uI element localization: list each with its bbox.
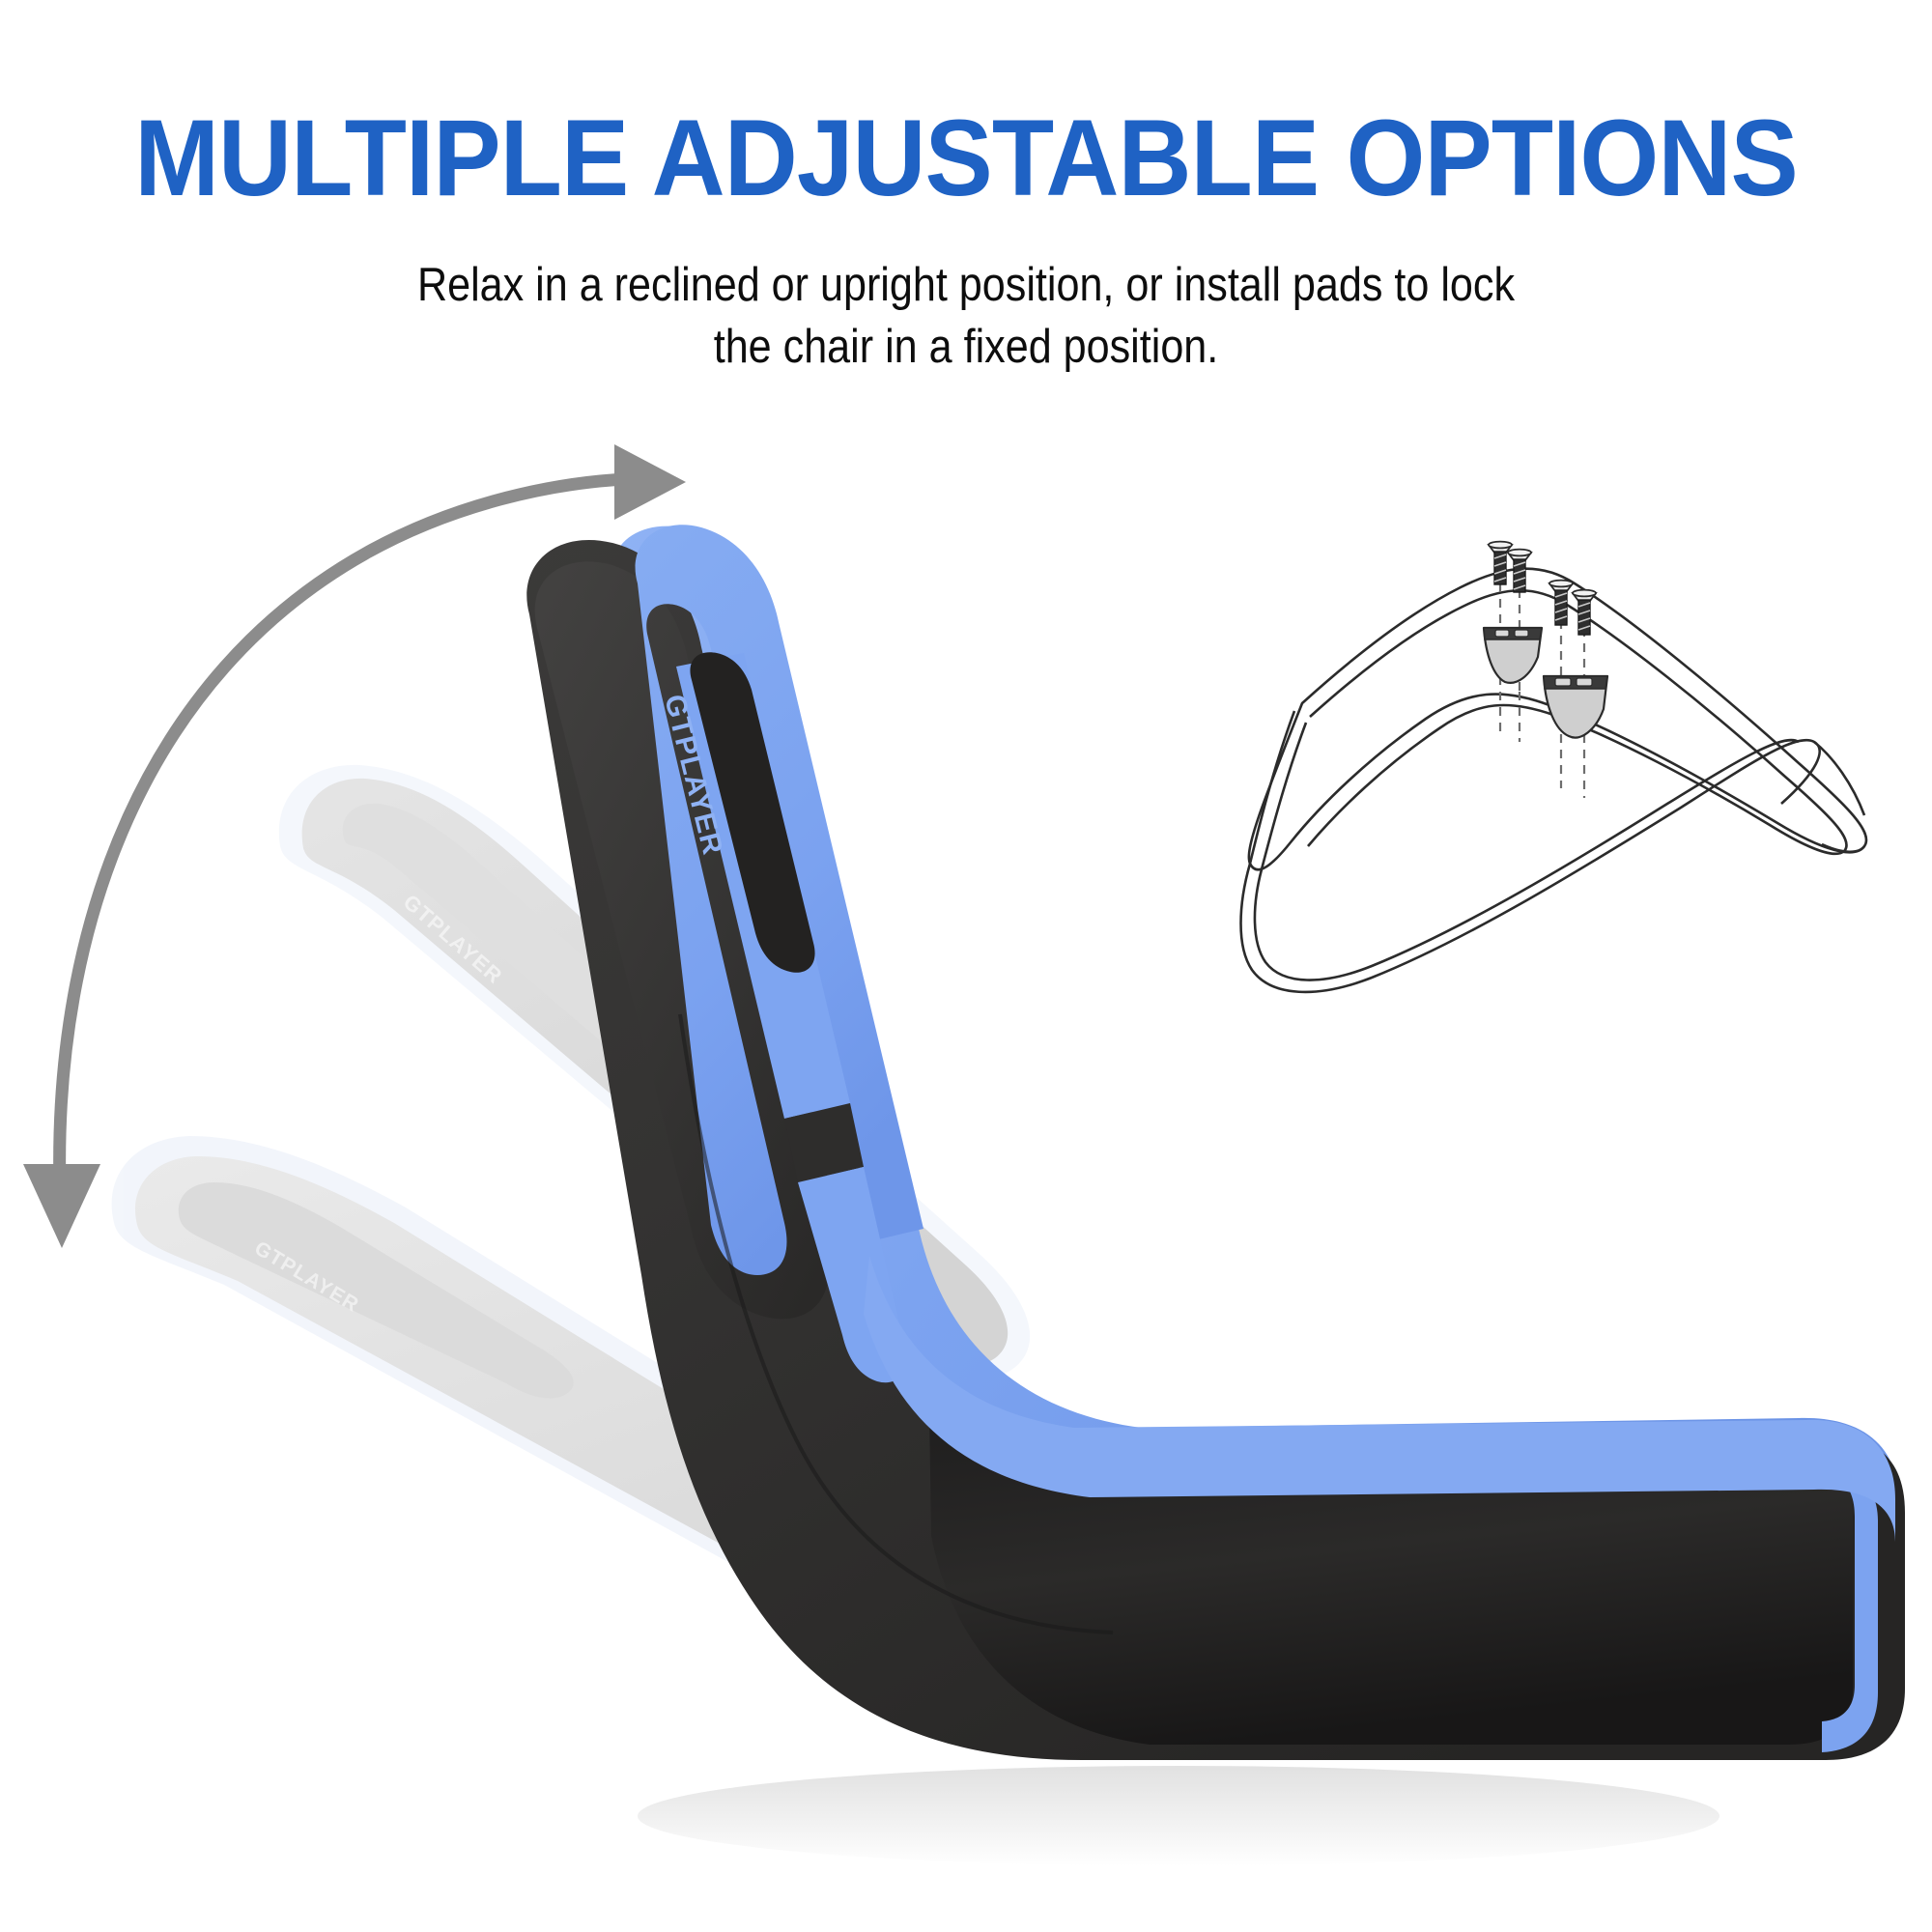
diagram-lock-pad-2 <box>1544 676 1607 738</box>
diagram-screw-1 <box>1489 542 1512 584</box>
product-illustration: GTPLAYER GTPLAYER <box>0 0 1932 1932</box>
main-chair: GTPLAYER <box>526 525 1905 1760</box>
arc-arrow-head-top <box>614 444 686 520</box>
product-feature-image: MULTIPLE ADJUSTABLE OPTIONS Relax in a r… <box>0 0 1932 1932</box>
arc-arrow-head-bottom <box>23 1164 100 1248</box>
diagram-screw-3 <box>1549 581 1573 625</box>
diagram-frame-outline <box>1241 569 1867 992</box>
diagram-screw-4 <box>1573 590 1596 635</box>
floor-shadow <box>638 1766 1719 1866</box>
diagram-lock-pad-1 <box>1484 628 1542 683</box>
assembly-diagram <box>1241 542 1867 992</box>
